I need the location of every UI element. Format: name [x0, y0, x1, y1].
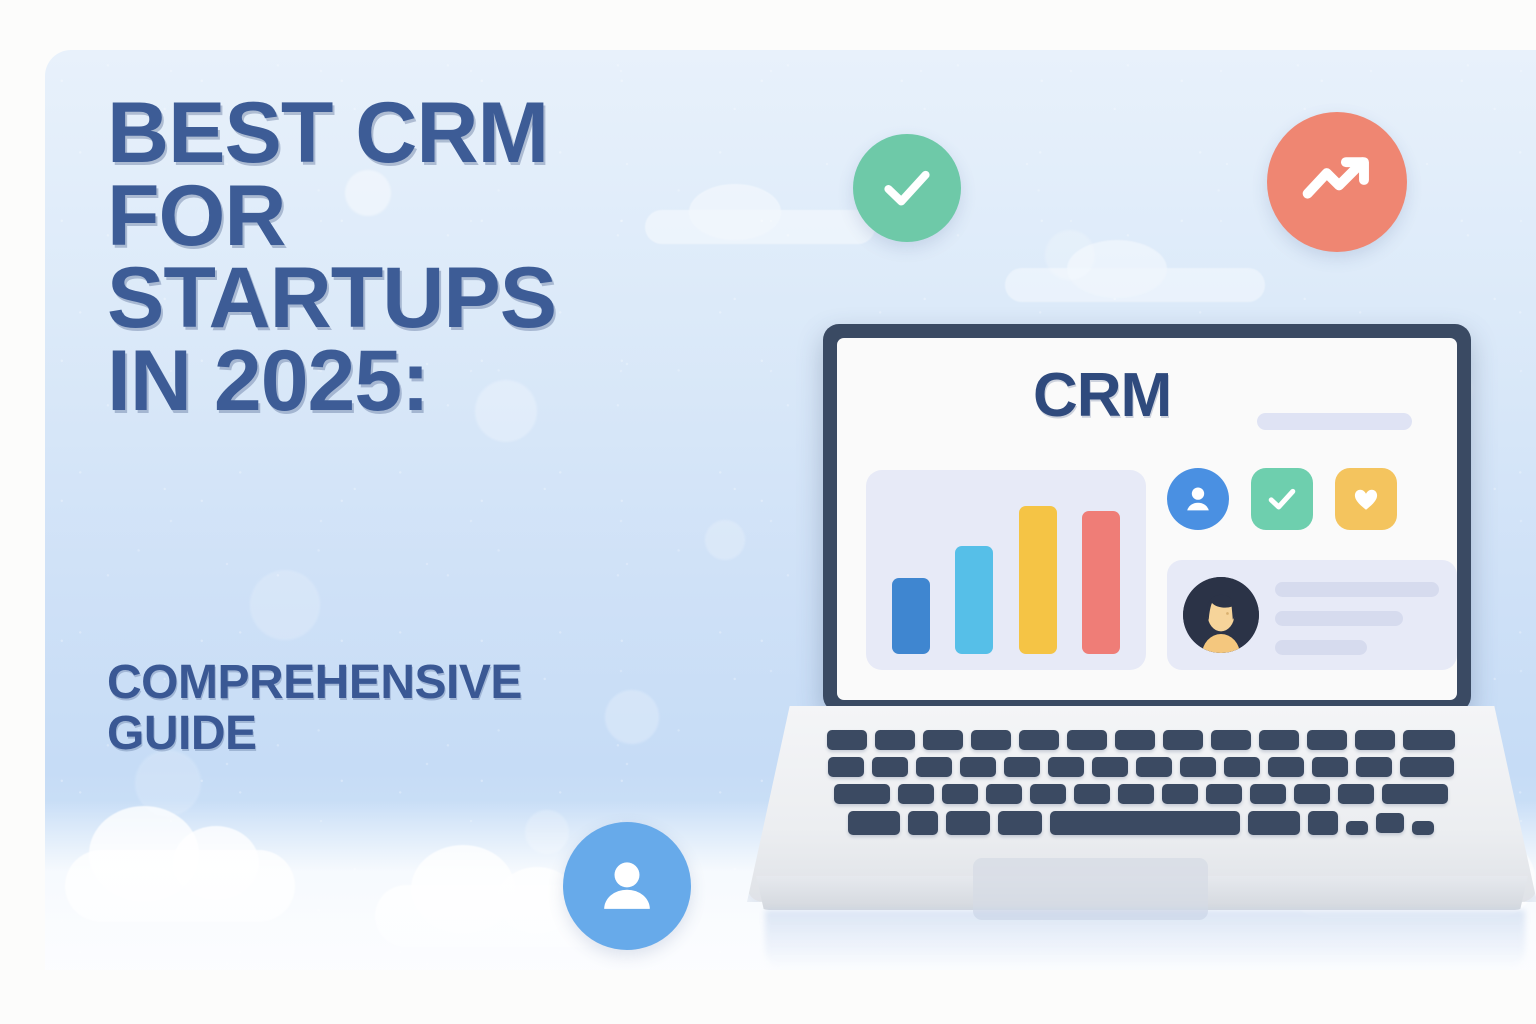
user-badge: [563, 822, 691, 950]
subhead-line: GUIDE: [107, 709, 747, 760]
chart-bar: [892, 578, 930, 654]
quick-action-tiles: [1167, 468, 1397, 530]
contact-record-card[interactable]: [1167, 560, 1457, 670]
laptop-illustration: CRM: [705, 282, 1535, 942]
heart-icon: [1348, 481, 1384, 517]
check-icon: [1263, 480, 1301, 518]
trending-up-badge: [1267, 112, 1407, 252]
page-title: BEST CRM FOR STARTUPS IN 2025:: [107, 92, 717, 422]
laptop-lid: CRM: [823, 324, 1471, 712]
keyboard-row: [801, 811, 1481, 835]
keyboard-row: [801, 784, 1481, 804]
check-badge: [853, 134, 961, 242]
hero-card: BEST CRM FOR STARTUPS IN 2025: COMPREHEN…: [45, 50, 1536, 970]
headline-line: FOR: [107, 175, 717, 258]
poster-canvas: BEST CRM FOR STARTUPS IN 2025: COMPREHEN…: [0, 0, 1536, 1024]
laptop-screen: CRM: [837, 338, 1457, 700]
keyboard-row: [801, 757, 1481, 777]
headline-line: BEST CRM: [107, 92, 717, 175]
trending-up-icon: [1296, 141, 1378, 223]
favorite-tile[interactable]: [1335, 468, 1397, 530]
screen-placeholder-bar: [1257, 413, 1412, 430]
chart-bar: [955, 546, 993, 654]
bokeh-dot: [250, 570, 320, 640]
user-icon: [590, 849, 664, 923]
contact-detail-lines: [1275, 582, 1439, 669]
headline-line: STARTUPS: [107, 257, 717, 340]
page-subtitle: COMPREHENSIVE GUIDE: [107, 658, 747, 760]
contact-line: [1275, 582, 1439, 597]
check-icon: [876, 157, 938, 219]
chart-bar: [1019, 506, 1057, 654]
keyboard-row: [801, 730, 1481, 750]
contact-line: [1275, 611, 1403, 626]
person-avatar-icon: [1183, 577, 1259, 653]
contact-tile[interactable]: [1167, 468, 1229, 530]
contact-line: [1275, 640, 1367, 655]
task-done-tile[interactable]: [1251, 468, 1313, 530]
user-icon: [1179, 480, 1217, 518]
headline-line: IN 2025:: [107, 340, 717, 423]
screen-app-title: CRM: [1033, 360, 1171, 431]
chart-bar: [1082, 511, 1120, 654]
laptop-keyboard[interactable]: [801, 730, 1481, 842]
laptop-reflection: [765, 910, 1525, 970]
chart-card: [866, 470, 1146, 670]
subhead-line: COMPREHENSIVE: [107, 658, 747, 709]
bar-chart: [892, 486, 1120, 654]
avatar: [1183, 577, 1259, 653]
